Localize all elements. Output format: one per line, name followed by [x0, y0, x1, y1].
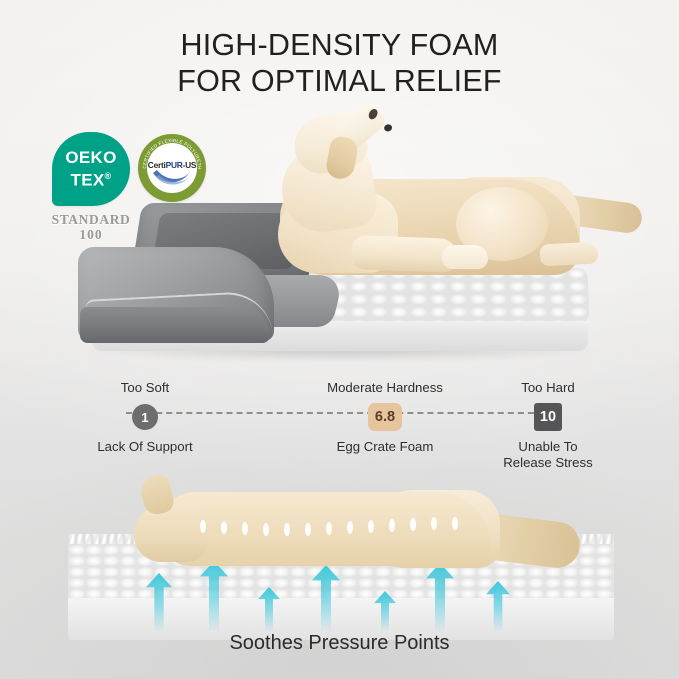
scale-node-too-soft: Too Soft 1 Lack Of Support: [60, 380, 230, 455]
spine-dot: [410, 518, 416, 531]
spine-dot: [431, 517, 437, 530]
scale-marker-row-moderate: 6.8: [300, 400, 470, 434]
scale-marker-row-soft: 1: [60, 400, 230, 434]
scale-top-label-soft: Too Soft: [60, 380, 230, 396]
certipur-label: CertiPUR-US: [147, 160, 197, 170]
scale-node-moderate: Moderate Hardness 6.8 Egg Crate Foam: [300, 380, 470, 455]
oeko-tex-standard-label: STANDARD 100: [48, 212, 134, 242]
spine-dot: [452, 517, 458, 530]
scale-bottom-label-soft: Lack Of Support: [60, 439, 230, 455]
scale-marker-10: 10: [534, 403, 562, 431]
spine-dot: [347, 521, 353, 534]
pressure-arrow-3: [258, 587, 280, 636]
scale-node-too-hard: Too Hard 10 Unable To Release Stress: [463, 380, 633, 471]
spine-dot: [284, 523, 290, 536]
bottom-caption: Soothes Pressure Points: [0, 630, 679, 656]
spine-dot: [368, 520, 374, 533]
headline-line-1: HIGH-DENSITY FOAM: [0, 27, 679, 63]
spine-dot: [305, 523, 311, 536]
scale-top-label-hard: Too Hard: [463, 380, 633, 396]
spine-dot: [389, 519, 395, 532]
oeko-standard-number: 100: [48, 227, 134, 242]
pressure-point-illustration: [68, 472, 614, 640]
scale-bottom-label-hard-line-2: Release Stress: [463, 455, 633, 471]
oeko-tex-line-1: OEKO: [65, 149, 116, 167]
certipur-inner-disc: CertiPUR-US: [147, 143, 197, 193]
scale-bottom-label-moderate: Egg Crate Foam: [300, 439, 470, 455]
dog-eye: [383, 123, 393, 132]
spine-dot: [242, 522, 248, 535]
scale-top-label-moderate: Moderate Hardness: [300, 380, 470, 396]
spine-dot: [221, 521, 227, 534]
scale-bottom-label-hard: Unable To Release Stress: [463, 439, 633, 471]
headline-line-2: FOR OPTIMAL RELIEF: [0, 63, 679, 99]
spine-dot: [326, 522, 332, 535]
infographic-page: HIGH-DENSITY FOAM FOR OPTIMAL RELIEF OEK…: [0, 0, 679, 679]
oeko-tex-badge: OEKO TEX® STANDARD 100: [48, 132, 134, 242]
dog-rear-paw: [539, 241, 598, 266]
hardness-scale: Too Soft 1 Lack Of Support Moderate Hard…: [0, 380, 679, 472]
sleeping-dog-illustration: [120, 474, 580, 584]
dog-front-paw: [442, 245, 488, 269]
scale-marker-6-8: 6.8: [368, 403, 402, 431]
sleeping-dog-head: [134, 504, 208, 562]
dog-nose: [367, 107, 379, 121]
spine-dot: [200, 520, 206, 533]
certification-badges: OEKO TEX® STANDARD 100 CONTAINS CERTIFIE…: [40, 132, 230, 252]
oeko-tex-icon: OEKO TEX®: [52, 132, 130, 206]
spine-pressure-dots: [200, 518, 480, 538]
pressure-arrow-7: [486, 581, 510, 636]
page-title: HIGH-DENSITY FOAM FOR OPTIMAL RELIEF: [0, 27, 679, 99]
scale-marker-1: 1: [132, 404, 158, 430]
scale-bottom-label-hard-line-1: Unable To: [463, 439, 633, 455]
hero-dog-illustration: [220, 107, 620, 307]
certipur-us-badge: CONTAINS CERTIFIED FLEXIBLE POLYURETHANE…: [138, 134, 206, 202]
scale-marker-row-hard: 10: [463, 400, 633, 434]
oeko-standard-word: STANDARD: [52, 212, 131, 227]
oeko-tex-line-2: TEX®: [71, 167, 112, 190]
spine-dot: [263, 523, 269, 536]
